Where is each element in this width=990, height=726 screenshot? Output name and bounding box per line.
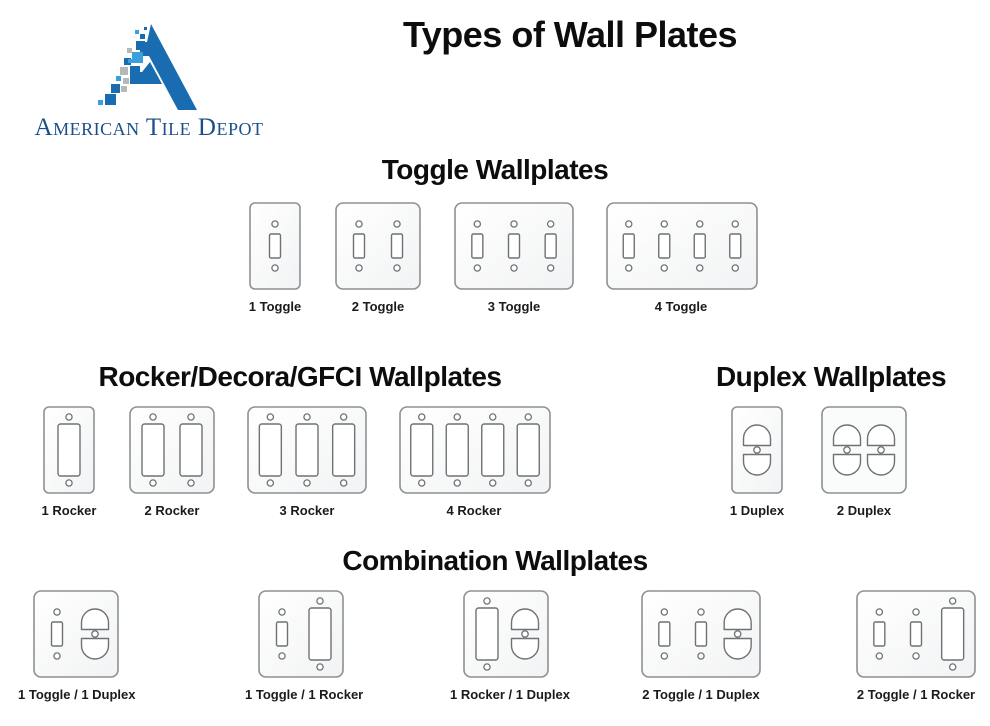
section-heading-rocker: Rocker/Decora/GFCI Wallplates bbox=[40, 361, 560, 393]
plate-caption: 1 Toggle / 1 Rocker bbox=[245, 688, 357, 701]
wallplate-graphic bbox=[856, 590, 976, 678]
plate-caption: 3 Rocker bbox=[246, 504, 368, 517]
plate-caption: 1 Duplex bbox=[714, 504, 800, 517]
plate-item-1-toggle[interactable]: 1 Toggle bbox=[232, 202, 318, 313]
wallplate-graphic bbox=[606, 202, 758, 290]
wallplate-graphic bbox=[258, 590, 344, 678]
plate-caption: 4 Rocker bbox=[399, 504, 549, 517]
plate-caption: 2 Toggle bbox=[330, 300, 426, 313]
plate-item-2-rocker[interactable]: 2 Rocker bbox=[124, 406, 220, 517]
brand-logo: American Tile Depot bbox=[14, 22, 284, 147]
plate-item-3-rocker[interactable]: 3 Rocker bbox=[246, 406, 368, 517]
plate-item-1-rocker[interactable]: 1 Rocker bbox=[26, 406, 112, 517]
wallplate-graphic bbox=[33, 590, 119, 678]
wallplate-graphic bbox=[129, 406, 215, 494]
plate-item-2-toggle[interactable]: 2 Toggle bbox=[330, 202, 426, 313]
wallplate-graphic bbox=[247, 406, 367, 494]
plate-caption: 2 Rocker bbox=[124, 504, 220, 517]
wallplate-graphic bbox=[43, 406, 95, 494]
plate-item-1-rocker-1-duplex[interactable]: 1 Rocker / 1 Duplex bbox=[450, 590, 562, 701]
plate-item-1-toggle-1-rocker[interactable]: 1 Toggle / 1 Rocker bbox=[245, 590, 357, 701]
plate-caption: 1 Rocker bbox=[26, 504, 112, 517]
plate-item-4-rocker[interactable]: 4 Rocker bbox=[399, 406, 549, 517]
plate-item-1-duplex[interactable]: 1 Duplex bbox=[714, 406, 800, 517]
wallplate-graphic bbox=[821, 406, 907, 494]
plate-caption: 4 Toggle bbox=[606, 300, 756, 313]
section-heading-duplex: Duplex Wallplates bbox=[672, 361, 990, 393]
plate-item-2-toggle-1-rocker[interactable]: 2 Toggle / 1 Rocker bbox=[845, 590, 987, 701]
wallplate-graphic bbox=[249, 202, 301, 290]
section-heading-combination: Combination Wallplates bbox=[0, 545, 990, 577]
plate-item-2-toggle-1-duplex[interactable]: 2 Toggle / 1 Duplex bbox=[630, 590, 772, 701]
plate-caption: 2 Duplex bbox=[816, 504, 912, 517]
wallplate-graphic bbox=[454, 202, 574, 290]
plate-caption: 1 Rocker / 1 Duplex bbox=[450, 688, 562, 701]
wallplate-graphic bbox=[335, 202, 421, 290]
wallplate-graphic bbox=[731, 406, 783, 494]
infographic-canvas: American Tile Depot Types of Wall Plates… bbox=[0, 0, 990, 726]
plate-caption: 3 Toggle bbox=[453, 300, 575, 313]
plate-caption: 1 Toggle / 1 Duplex bbox=[18, 688, 134, 701]
wallplate-graphic bbox=[463, 590, 549, 678]
wallplate-graphic bbox=[641, 590, 761, 678]
plate-caption: 2 Toggle / 1 Rocker bbox=[845, 688, 987, 701]
plate-item-4-toggle[interactable]: 4 Toggle bbox=[606, 202, 756, 313]
plate-item-2-duplex[interactable]: 2 Duplex bbox=[816, 406, 912, 517]
plate-caption: 2 Toggle / 1 Duplex bbox=[630, 688, 772, 701]
wallplate-graphic bbox=[399, 406, 551, 494]
section-heading-toggle: Toggle Wallplates bbox=[0, 154, 990, 186]
page-title: Types of Wall Plates bbox=[345, 14, 795, 56]
plate-item-3-toggle[interactable]: 3 Toggle bbox=[453, 202, 575, 313]
plate-caption: 1 Toggle bbox=[232, 300, 318, 313]
pixelated-letter-a-logo-icon bbox=[94, 22, 204, 114]
plate-item-1-toggle-1-duplex[interactable]: 1 Toggle / 1 Duplex bbox=[18, 590, 134, 701]
brand-wordmark: American Tile Depot bbox=[14, 114, 284, 142]
